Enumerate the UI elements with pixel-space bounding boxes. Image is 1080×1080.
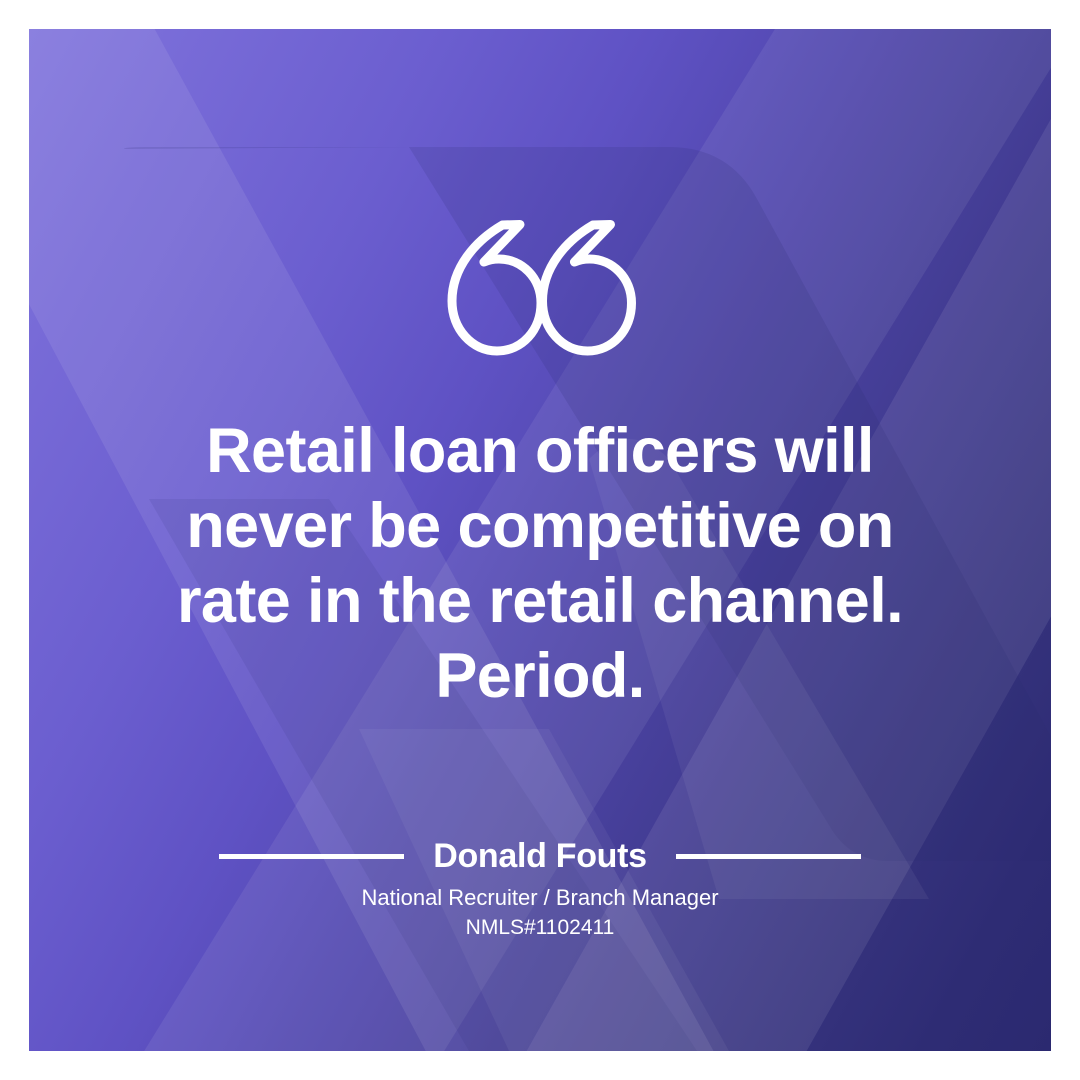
attribution-block: Donald Fouts National Recruiter / Branch… [29,835,1051,942]
quote-card-canvas: Retail loan officers will never be compe… [0,0,1080,1080]
quote-line: Retail loan officers will [145,414,935,489]
author-role: National Recruiter / Branch Manager [361,883,718,912]
double-quote-open-icon [442,216,639,368]
divider-left [219,854,404,859]
divider-right [676,854,861,859]
quote-line: rate in the retail channel. [145,564,935,639]
quote-line: Period. [145,639,935,714]
quote-text: Retail loan officers will never be compe… [145,414,935,714]
card-content: Retail loan officers will never be compe… [29,29,1051,1051]
quote-card: Retail loan officers will never be compe… [29,29,1051,1051]
author-name-row: Donald Fouts [29,835,1051,877]
author-license-number: NMLS#1102411 [466,914,615,942]
quote-line: never be competitive on [145,489,935,564]
author-name: Donald Fouts [404,835,676,877]
